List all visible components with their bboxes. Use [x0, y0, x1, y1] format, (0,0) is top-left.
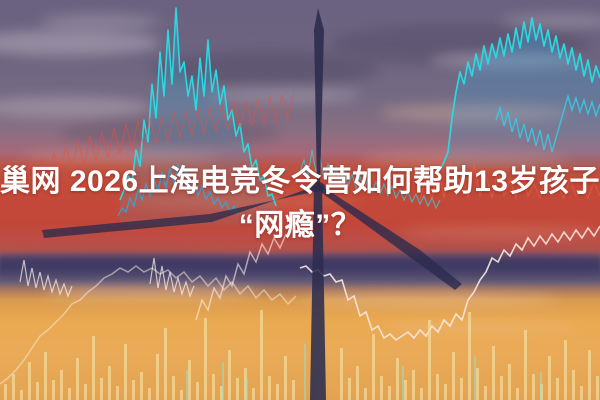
headline-block: 股巢网 2026上海电竞冬令营如何帮助13岁孩子戒 “网瘾”？ — [0, 0, 600, 400]
headline-line-1: 股巢网 2026上海电竞冬令营如何帮助13岁孩子戒 — [0, 160, 600, 204]
promo-banner: 股巢网 2026上海电竞冬令营如何帮助13岁孩子戒 “网瘾”？ — [0, 0, 600, 400]
headline-line-2: “网瘾”？ — [239, 204, 362, 248]
